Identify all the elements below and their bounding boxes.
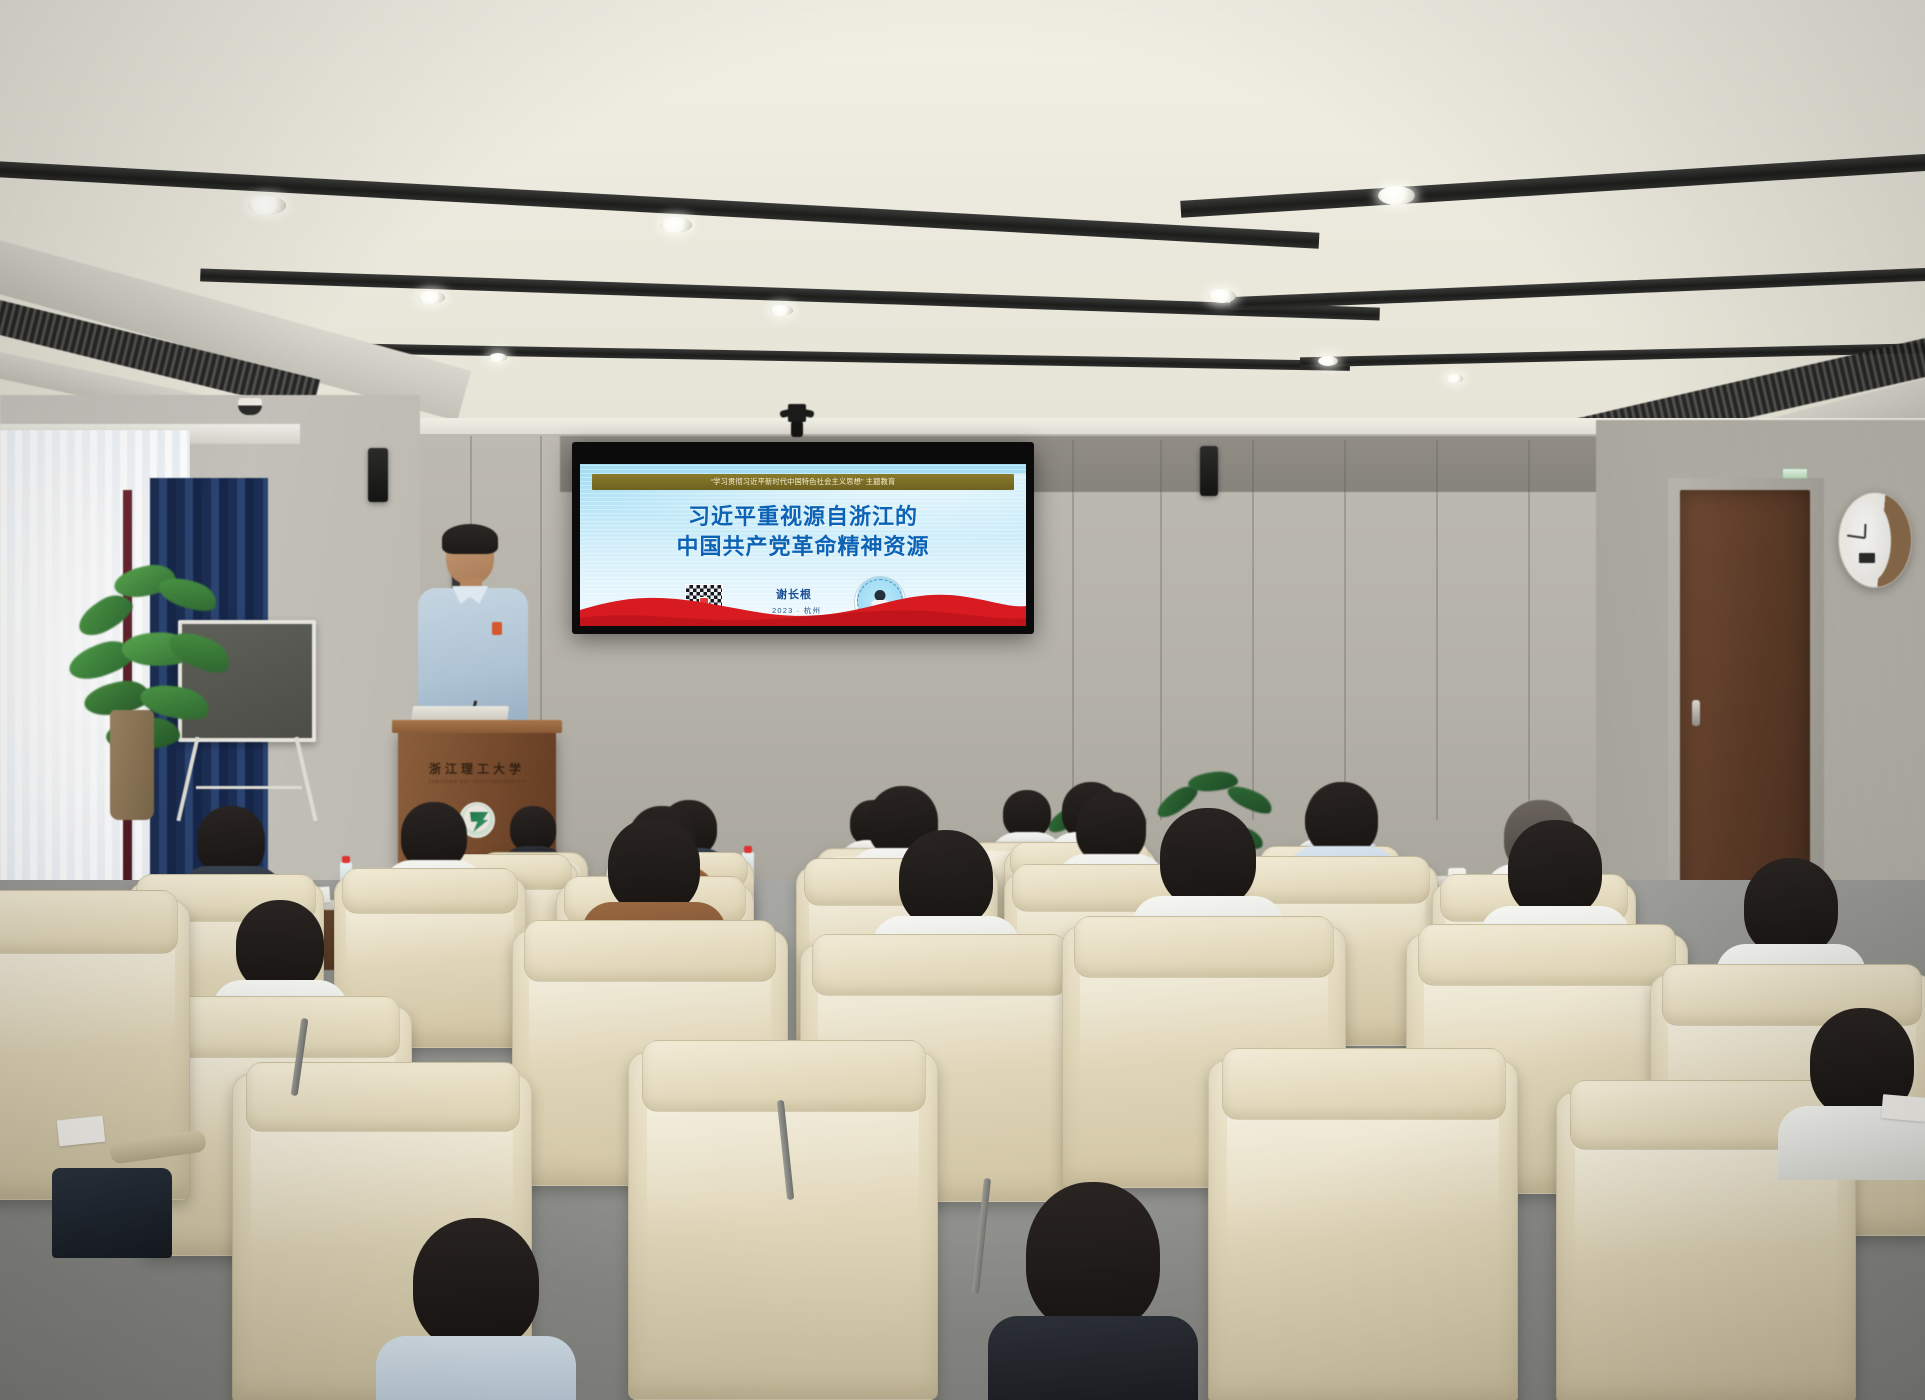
slide-title-line-1: 习近平重视源自浙江的 xyxy=(580,502,1026,532)
wall-speaker-left xyxy=(368,448,388,502)
downlight-3 xyxy=(418,291,445,304)
person-head xyxy=(1026,1182,1160,1332)
chair-headrest xyxy=(642,1040,926,1112)
person-head xyxy=(236,900,324,992)
downlight-8 xyxy=(1318,356,1338,366)
chair-headrest xyxy=(154,996,400,1058)
downlight-4 xyxy=(770,305,793,316)
wall-seam-3 xyxy=(1072,440,1074,820)
slide-title-line-2: 中国共产党革命精神资源 xyxy=(580,532,1026,562)
chair-headrest xyxy=(0,890,178,954)
person-shoulders xyxy=(376,1336,576,1400)
audience-person xyxy=(376,1218,576,1400)
wall-seam-4 xyxy=(1160,440,1162,820)
person-head xyxy=(1306,782,1378,856)
slide-red-wave-graphic xyxy=(580,580,1026,626)
person-head xyxy=(608,818,700,914)
person-head xyxy=(1744,858,1838,956)
downlight-1 xyxy=(248,196,286,215)
camera-body xyxy=(788,404,806,422)
dome-security-camera xyxy=(238,398,262,415)
presenter-hair xyxy=(442,524,498,554)
lectern-top-edge xyxy=(392,720,562,733)
bag-on-chair xyxy=(52,1168,172,1258)
conference-room-photo: “学习贯彻习近平新时代中国特色社会主义思想” 主题教育 习近平重视源自浙江的 中… xyxy=(0,0,1925,1400)
door-handle[interactable] xyxy=(1692,700,1700,726)
lectern-university-name: 浙江理工大学 xyxy=(398,760,556,777)
presenter-badge xyxy=(492,622,502,635)
clock-face xyxy=(1845,499,1891,583)
slide-title: 习近平重视源自浙江的 中国共产党革命精神资源 xyxy=(580,502,1026,562)
wall-speaker-right xyxy=(1200,446,1218,496)
downlight-7 xyxy=(1208,289,1236,303)
display-screen-bezel[interactable]: “学习贯彻习近平新时代中国特色社会主义思想” 主题教育 习近平重视源自浙江的 中… xyxy=(572,442,1034,634)
person-shoulders xyxy=(988,1316,1198,1400)
person-head xyxy=(899,830,993,928)
plant-leaf xyxy=(164,624,236,681)
wall-seam-7 xyxy=(1436,440,1438,820)
person-head xyxy=(1160,808,1256,908)
chair-headrest xyxy=(1222,1048,1506,1120)
person-head xyxy=(413,1218,539,1350)
lectern-university-subtitle: ZHEJIANG SCI-TECH UNIVERSITY xyxy=(398,779,556,784)
light-switch-plate[interactable] xyxy=(1782,468,1808,479)
slide-display[interactable]: “学习贯彻习近平新时代中国特色社会主义思想” 主题教育 习近平重视源自浙江的 中… xyxy=(580,464,1026,626)
audience-person xyxy=(988,1182,1198,1400)
person-head xyxy=(1508,820,1602,918)
notepad xyxy=(57,1116,105,1147)
wall-seam-6 xyxy=(1344,440,1346,820)
downlight-6 xyxy=(1378,186,1415,205)
camera-lens xyxy=(791,421,803,437)
chair-headrest xyxy=(812,934,1068,996)
plant-pot-left xyxy=(110,710,154,820)
audience-person xyxy=(1778,1008,1925,1178)
downlight-9 xyxy=(1446,374,1463,383)
chair-headrest xyxy=(1074,916,1334,978)
downlight-2 xyxy=(660,217,692,233)
wall-seam-5 xyxy=(1252,440,1254,820)
chair-headrest xyxy=(246,1062,520,1132)
downlight-5 xyxy=(489,353,507,362)
slide-banner: “学习贯彻习近平新时代中国特色社会主义思想” 主题教育 xyxy=(592,474,1014,490)
clock-date-window xyxy=(1859,553,1875,563)
chair-headrest xyxy=(1418,924,1676,986)
slide-banner-text: “学习贯彻习近平新时代中国特色社会主义思想” 主题教育 xyxy=(711,477,896,488)
ceiling-camera xyxy=(780,404,814,444)
chair-headrest xyxy=(342,868,518,914)
wall-clock xyxy=(1838,492,1912,588)
wall-seam-8 xyxy=(1528,440,1530,820)
notepad-2 xyxy=(1881,1094,1925,1122)
chair-headrest xyxy=(524,920,776,982)
